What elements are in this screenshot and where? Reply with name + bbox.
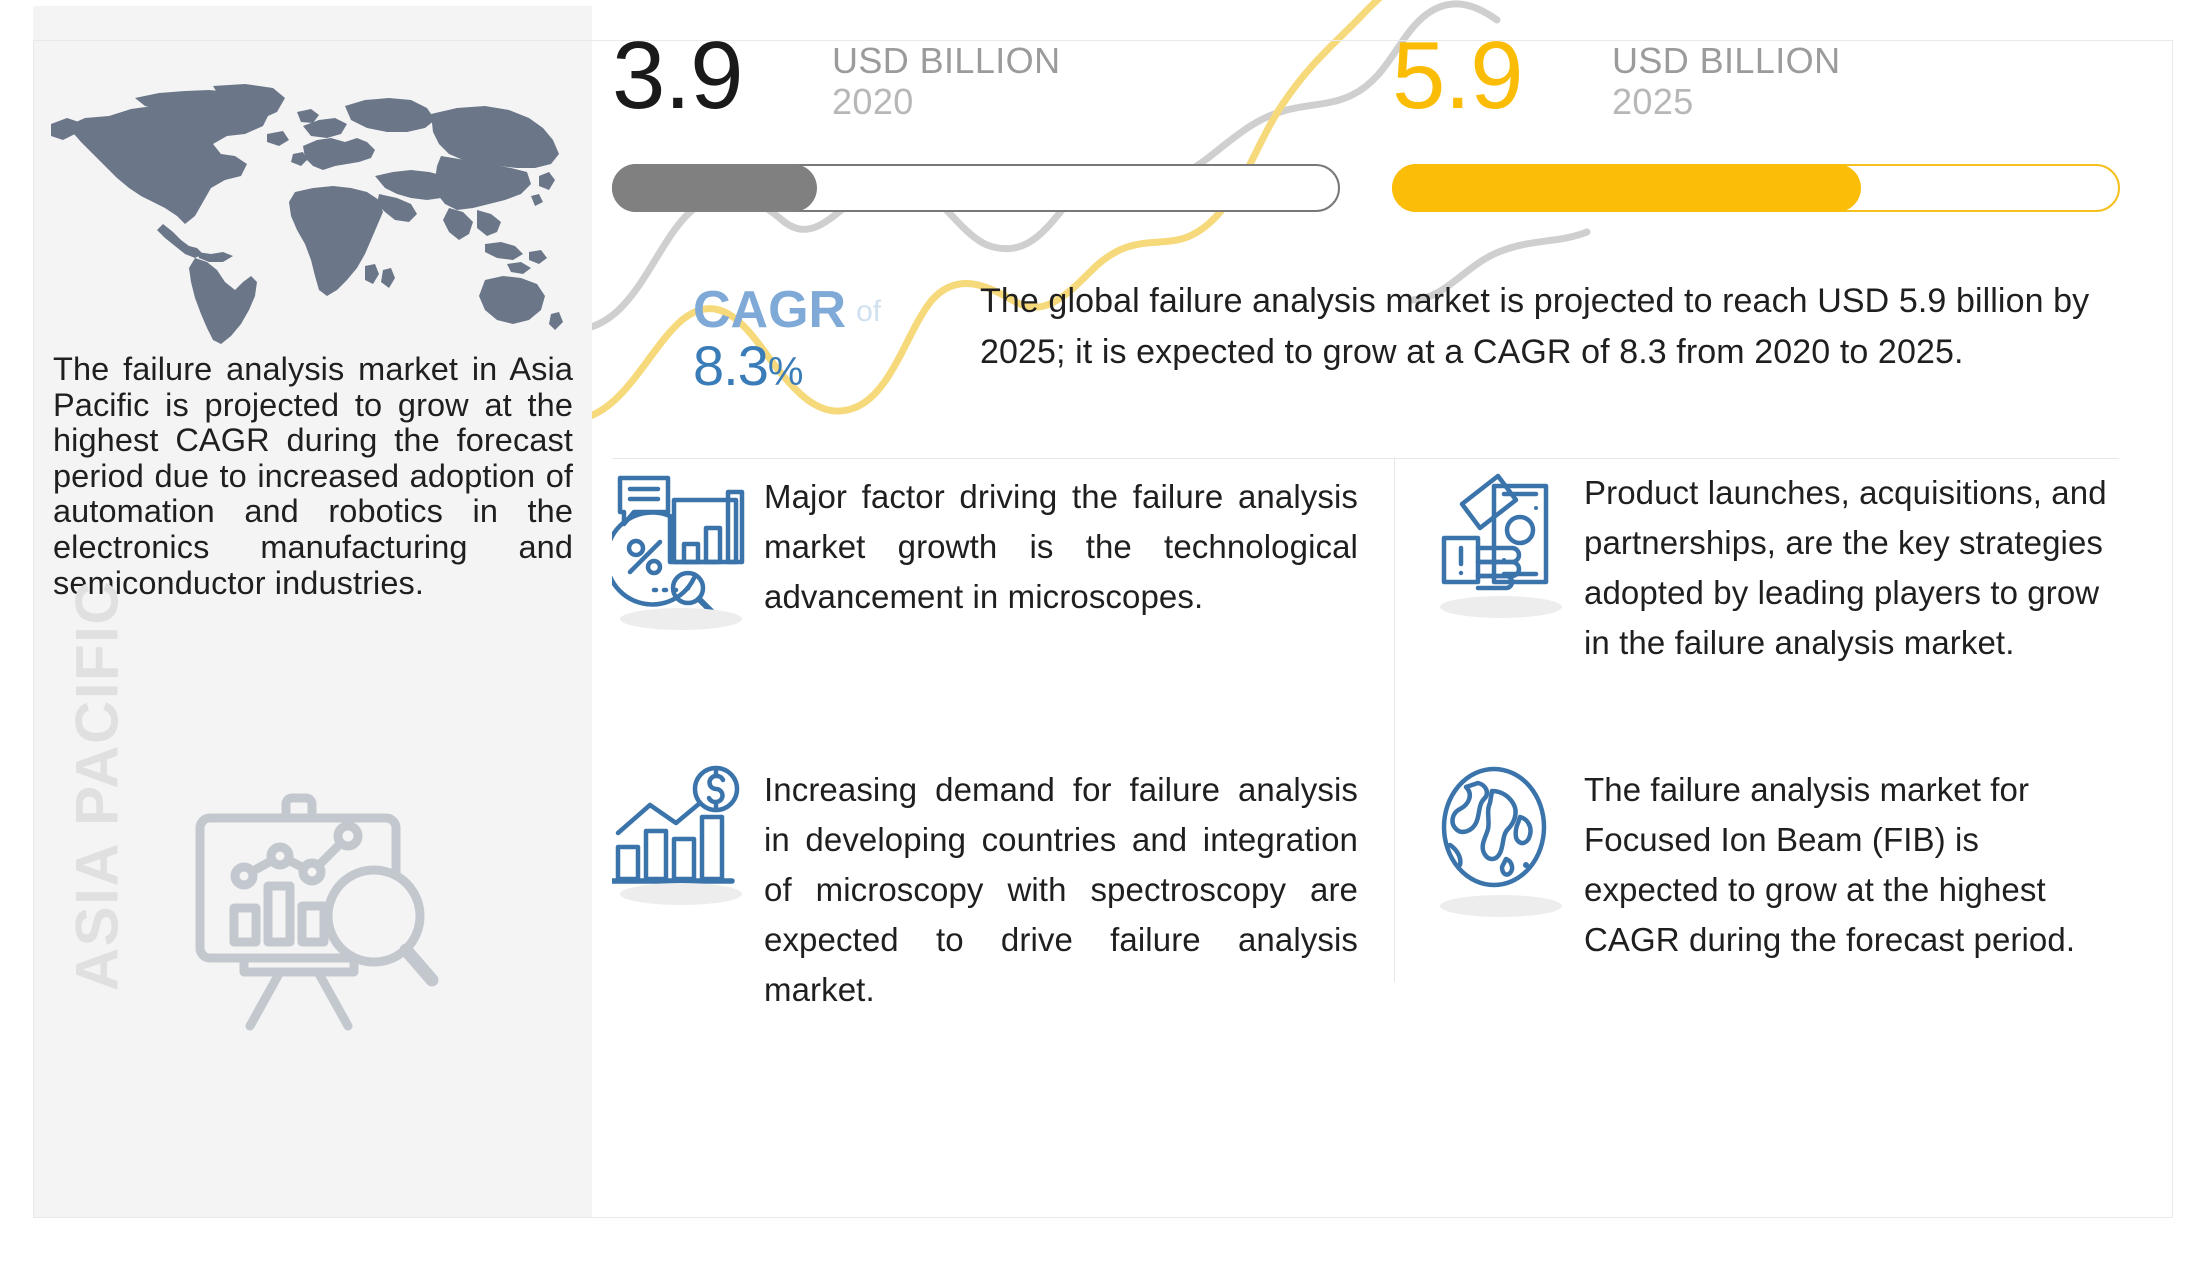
hand-holding-money-icon [1432, 468, 1584, 618]
fact-item-3: Product launches, acquisitions, and part… [1432, 468, 2122, 668]
fact-text-3: Product launches, acquisitions, and part… [1584, 468, 2122, 668]
fact-text-2: Increasing demand for failure analysis i… [764, 765, 1358, 1015]
headline-description: The global failure analysis market is pr… [980, 276, 2110, 378]
region-panel: The failure analysis market in Asia Paci… [33, 6, 592, 1218]
icon-shadow [620, 608, 742, 630]
progress-fill-2025 [1392, 164, 1861, 212]
icon-shadow [1440, 895, 1562, 917]
cagr-of-label: of [856, 295, 881, 328]
pie-bar-analytics-icon [612, 472, 764, 622]
icon-shadow [1440, 596, 1562, 618]
fact-text-1: Major factor driving the failure analysi… [764, 472, 1358, 622]
icon-shadow [620, 883, 742, 905]
vertical-divider [1394, 458, 1395, 982]
cagr-number: 8.3 [693, 334, 768, 397]
growth-bar-chart-dollar-icon [612, 765, 764, 915]
cagr-label: CAGR [693, 281, 846, 339]
fact-item-4: The failure analysis market for Focused … [1432, 765, 2122, 965]
world-map [45, 84, 565, 346]
progress-bar-2025 [1392, 164, 2120, 212]
stat-block-2025: 5.9 USD BILLION 2025 [1392, 42, 2120, 128]
progress-bar-2020 [612, 164, 1340, 212]
analysis-board-icon [188, 788, 443, 1038]
fact-text-4: The failure analysis market for Focused … [1584, 765, 2122, 965]
fact-item-2: Increasing demand for failure analysis i… [612, 765, 1372, 1015]
stat-value-2025: 5.9 [1392, 28, 1522, 124]
fact-item-1: Major factor driving the failure analysi… [612, 472, 1372, 622]
globe-icon [1432, 765, 1584, 915]
progress-fill-2020 [612, 164, 817, 212]
infographic-canvas: The failure analysis market in Asia Paci… [0, 0, 2207, 1272]
cagr-block: CAGRof 8.3% [693, 280, 943, 404]
stat-value-2020: 3.9 [612, 28, 742, 124]
stat-year-2025: 2025 [1612, 81, 1694, 122]
stat-unit-2020: USD BILLION [832, 40, 1060, 81]
region-vertical-label: ASIA PACIFIC [63, 556, 132, 1016]
horizontal-divider [612, 458, 2119, 459]
stat-block-2020: 3.9 USD BILLION 2020 [612, 42, 1340, 128]
cagr-percent-symbol: % [768, 350, 803, 394]
stat-year-2020: 2020 [832, 81, 914, 122]
stat-unit-2025: USD BILLION [1612, 40, 1840, 81]
